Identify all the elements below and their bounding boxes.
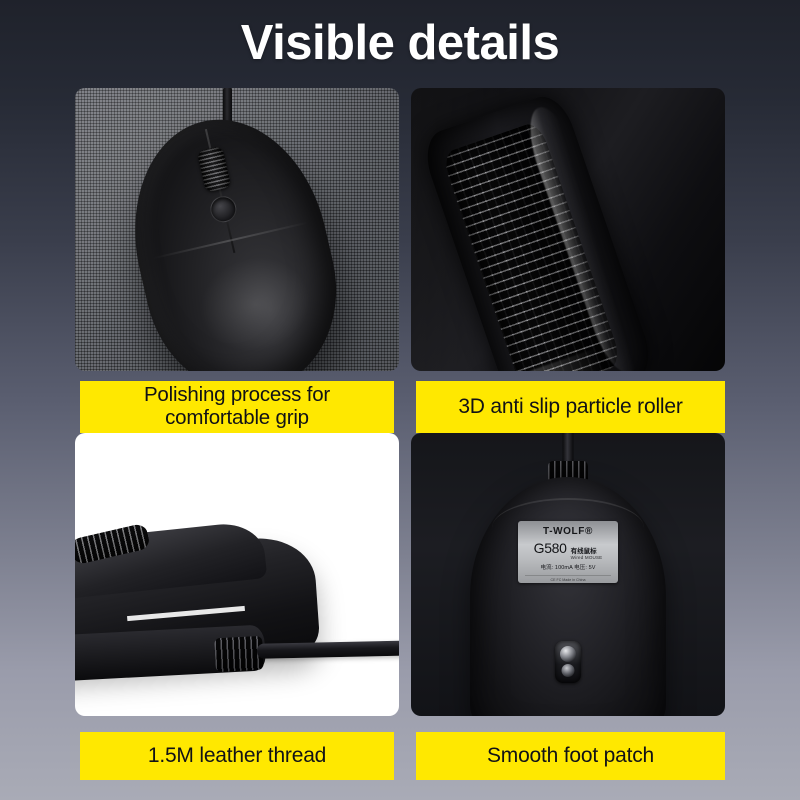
sensor-led	[562, 664, 575, 677]
product-spec-label: T-WOLF® G580 有线鼠标 Wired MOUSE 电流: 100mA …	[518, 521, 618, 583]
feature-card-roller[interactable]: 3D anti slip particle roller	[405, 88, 725, 433]
page-header: Visible details	[0, 0, 800, 86]
body-highlight	[191, 246, 319, 362]
caption-foot-patch-text: Smooth foot patch	[487, 744, 654, 768]
label-model: G580	[534, 540, 567, 556]
label-model-row: G580 有线鼠标 Wired MOUSE	[534, 540, 603, 560]
feature-card-thread[interactable]: 1.5M leather thread	[75, 433, 405, 780]
label-footer: CE FC Made in China	[525, 575, 611, 582]
label-brand-mark: ®	[585, 526, 593, 537]
sensor-lens	[560, 646, 576, 662]
label-brand-text: T-WOLF	[543, 526, 585, 537]
feature-card-grid: Polishing process forcomfortable grip 3D…	[75, 88, 725, 780]
caption-thread: 1.5M leather thread	[80, 732, 394, 780]
page-title: Visible details	[241, 15, 559, 71]
caption-roller: 3D anti slip particle roller	[416, 381, 725, 433]
photo-roller-macro	[411, 88, 725, 371]
optical-sensor	[555, 641, 581, 683]
braided-cable	[257, 640, 399, 658]
feature-card-foot-patch[interactable]: T-WOLF® G580 有线鼠标 Wired MOUSE 电流: 100mA …	[405, 433, 725, 780]
photo-mouse-on-mousepad	[75, 88, 399, 371]
feature-card-polishing[interactable]: Polishing process forcomfortable grip	[75, 88, 405, 433]
scroll-wheel	[197, 145, 232, 192]
label-brand: T-WOLF®	[543, 526, 593, 537]
dpi-button	[208, 194, 239, 225]
cable-strain-relief	[214, 636, 264, 672]
caption-polishing: Polishing process forcomfortable grip	[80, 381, 394, 433]
caption-foot-patch: Smooth foot patch	[416, 732, 725, 780]
label-spec: 电流: 100mA 电压: 5V	[540, 563, 595, 571]
photo-mouse-underside: T-WOLF® G580 有线鼠标 Wired MOUSE 电流: 100mA …	[411, 433, 725, 716]
label-type: 有线鼠标 Wired MOUSE	[571, 549, 603, 560]
photo-mouse-side-profile	[75, 433, 399, 716]
caption-polishing-text: Polishing process forcomfortable grip	[144, 384, 330, 430]
shell-seam	[153, 221, 309, 259]
caption-roller-text: 3D anti slip particle roller	[458, 395, 682, 419]
caption-thread-text: 1.5M leather thread	[148, 744, 326, 768]
label-type-en: Wired MOUSE	[571, 556, 603, 561]
